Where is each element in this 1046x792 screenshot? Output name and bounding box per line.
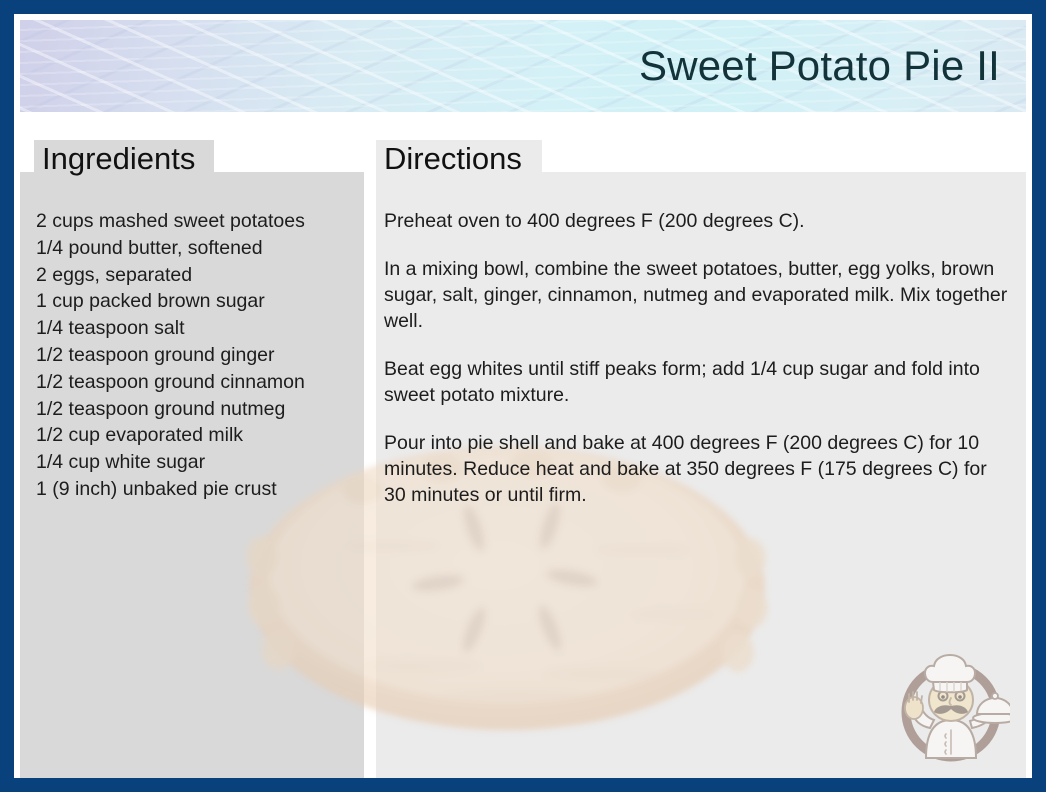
- ingredients-heading: Ingredients: [42, 140, 195, 178]
- directions-list: Preheat oven to 400 degrees F (200 degre…: [384, 208, 1012, 508]
- list-item: 1 (9 inch) unbaked pie crust: [36, 476, 356, 503]
- list-item: 1/2 teaspoon ground nutmeg: [36, 396, 356, 423]
- list-item: 1/2 teaspoon ground ginger: [36, 342, 356, 369]
- directions-heading: Directions: [384, 140, 522, 178]
- ingredients-heading-tab: Ingredients: [34, 140, 214, 182]
- direction-step: Preheat oven to 400 degrees F (200 degre…: [384, 208, 1012, 234]
- direction-step: Pour into pie shell and bake at 400 degr…: [384, 430, 1012, 508]
- slide-content-area: Sweet Potato Pie II: [14, 14, 1032, 778]
- page-title: Sweet Potato Pie II: [639, 42, 1000, 90]
- directions-panel: Preheat oven to 400 degrees F (200 degre…: [376, 172, 1026, 778]
- direction-step: Beat egg whites until stiff peaks form; …: [384, 356, 1012, 408]
- direction-step: In a mixing bowl, combine the sweet pota…: [384, 256, 1012, 334]
- list-item: 1/4 teaspoon salt: [36, 315, 356, 342]
- ingredients-list: 2 cups mashed sweet potatoes 1/4 pound b…: [36, 208, 356, 503]
- list-item: 1/2 cup evaporated milk: [36, 422, 356, 449]
- list-item: 1/4 cup white sugar: [36, 449, 356, 476]
- directions-heading-tab: Directions: [376, 140, 542, 182]
- ingredients-panel: 2 cups mashed sweet potatoes 1/4 pound b…: [20, 172, 364, 778]
- recipe-slide: Sweet Potato Pie II: [0, 0, 1046, 792]
- list-item: 1/4 pound butter, softened: [36, 235, 356, 262]
- list-item: 2 eggs, separated: [36, 262, 356, 289]
- list-item: 1 cup packed brown sugar: [36, 288, 356, 315]
- list-item: 1/2 teaspoon ground cinnamon: [36, 369, 356, 396]
- list-item: 2 cups mashed sweet potatoes: [36, 208, 356, 235]
- header-banner: Sweet Potato Pie II: [20, 20, 1026, 112]
